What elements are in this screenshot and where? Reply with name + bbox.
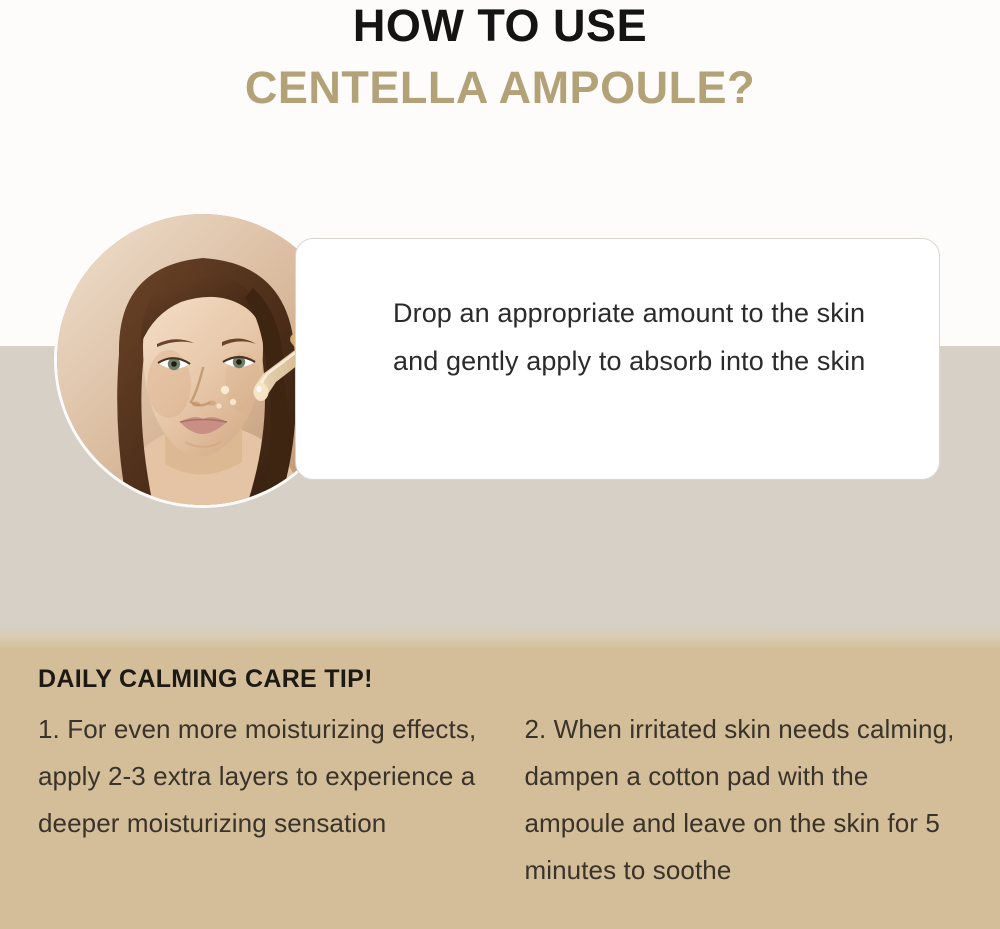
page-heading: HOW TO USE CENTELLA AMPOULE? — [0, 0, 1000, 112]
usage-instruction-text: Drop an appropriate amount to the skin a… — [393, 289, 903, 385]
tips-columns: 1. For even more moisturizing effects, a… — [38, 706, 968, 894]
page-title-primary: HOW TO USE — [0, 0, 1000, 51]
usage-instruction-card: Drop an appropriate amount to the skin a… — [295, 238, 940, 480]
page-title-secondary: CENTELLA AMPOULE? — [0, 51, 1000, 113]
background-band-gradient — [0, 624, 1000, 650]
tip-item-1: 1. For even more moisturizing effects, a… — [38, 706, 486, 894]
infographic-page: HOW TO USE CENTELLA AMPOULE? — [0, 0, 1000, 929]
tip-item-2: 2. When irritated skin needs calming, da… — [524, 706, 968, 894]
tips-section-heading: DAILY CALMING CARE TIP! — [38, 665, 373, 694]
